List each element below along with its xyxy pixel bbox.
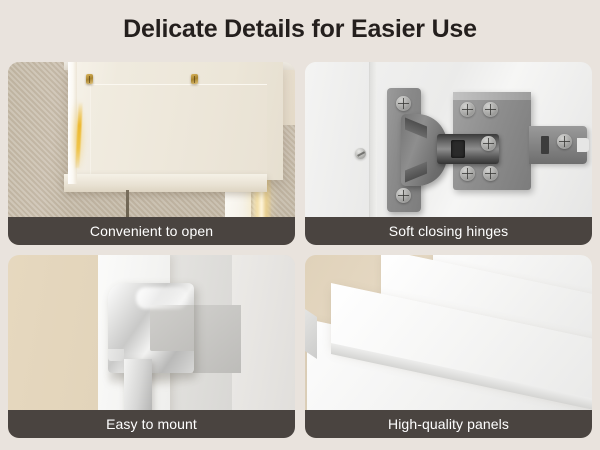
panel-recess: [193, 305, 241, 373]
page-title: Delicate Details for Easier Use: [123, 15, 477, 44]
hinge-screw-plate-top-left: [460, 102, 475, 117]
caption-label: High-quality panels: [388, 416, 509, 432]
feature-highlight-page: Delicate Details for Easier Use: [0, 0, 600, 450]
caption-label: Soft closing hinges: [389, 223, 508, 239]
hinge-adjust-screw: [481, 136, 496, 151]
hinge-screw-plate-bottom-right: [483, 166, 498, 181]
hinge-mounting-plate-top-edge: [453, 92, 531, 100]
caption-label: Convenient to open: [90, 223, 213, 239]
feature-card-soft-closing-hinges[interactable]: Soft closing hinges: [305, 62, 592, 245]
cabinet-door-inner-panel: [90, 84, 267, 181]
panel-slab-left-edge: [305, 309, 317, 359]
feature-card-grid: Convenient to open: [8, 62, 592, 438]
feature-card-easy-to-mount[interactable]: Easy to mount: [8, 255, 295, 438]
door-screw: [355, 148, 366, 159]
caption-bar-easy-to-mount: Easy to mount: [8, 410, 295, 438]
cabinet-door: [68, 62, 283, 180]
gold-screw-left: [86, 74, 93, 84]
bracket-highlight: [136, 287, 188, 309]
hinge-screw-cup-bottom: [396, 188, 411, 203]
feature-card-high-quality-panels[interactable]: High-quality panels: [305, 255, 592, 438]
hinge-screw-cup-top: [396, 96, 411, 111]
hinge-tail-slot: [541, 136, 549, 154]
caption-label: Easy to mount: [106, 416, 197, 432]
caption-bar-soft-closing-hinges: Soft closing hinges: [305, 217, 592, 245]
hinge-tail-notch: [577, 138, 589, 152]
hinge-screw-plate-bottom-left: [460, 166, 475, 181]
bracket-notch: [108, 349, 124, 361]
gold-screw-right: [191, 74, 198, 84]
cabinet-shelf: [64, 174, 267, 192]
caption-bar-high-quality-panels: High-quality panels: [305, 410, 592, 438]
caption-bar-convenient-to-open: Convenient to open: [8, 217, 295, 245]
bracket-cutout: [150, 305, 194, 351]
page-title-bar: Delicate Details for Easier Use: [0, 0, 600, 58]
bracket-stem: [124, 359, 152, 415]
hinge-tail-screw: [557, 134, 572, 149]
feature-card-convenient-to-open[interactable]: Convenient to open: [8, 62, 295, 245]
hinge-arm-hole: [451, 140, 465, 158]
hinge-screw-plate-top-right: [483, 102, 498, 117]
